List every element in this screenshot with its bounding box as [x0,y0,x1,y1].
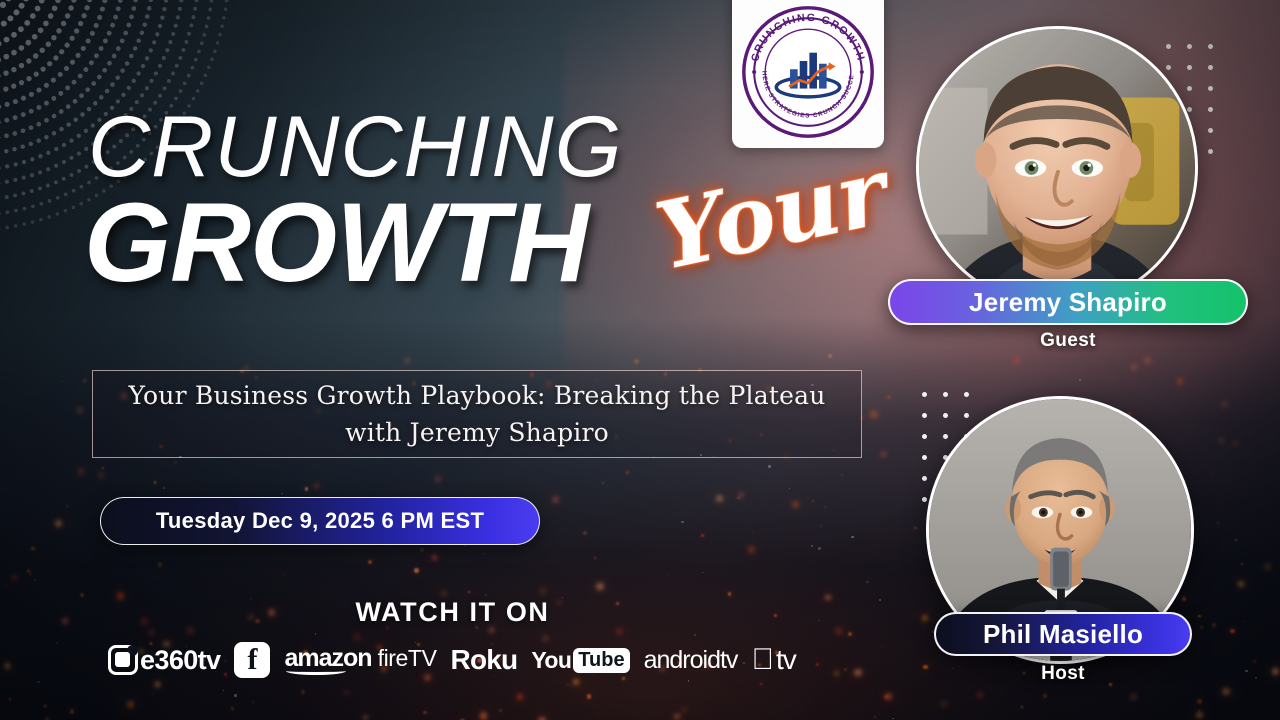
guest-name-text: Jeremy Shapiro [969,287,1167,318]
platform-roku[interactable]: Roku [451,644,518,676]
firetv-label: fireTV [378,647,437,670]
e360tv-label: e360tv [140,645,220,676]
platform-appletv[interactable]:  tv [751,644,795,676]
apple-icon:  [751,645,774,675]
facebook-label: f [234,645,270,675]
promo-poster: CRUNCHING GROWTH WHERE STRATEGIES CRUNCH… [0,0,1280,720]
watch-it-on-heading: WATCH IT ON [0,597,905,628]
guest-name-badge: Jeremy Shapiro [888,279,1248,325]
guest-avatar [916,26,1198,308]
facebook-icon: f [234,642,270,678]
date-time-badge: Tuesday Dec 9, 2025 6 PM EST [100,497,540,545]
session-title-text: Your Business Growth Playbook: Breaking … [119,377,835,452]
androidtv-label: androidtv [644,646,738,675]
platform-logo-row: e360tv f amazon fireTV Roku You Tube a [108,638,808,682]
youtube-label-tube: Tube [573,648,629,673]
platform-youtube[interactable]: You Tube [531,647,629,674]
host-name-text: Phil Masiello [983,619,1143,650]
platform-amazon-firetv[interactable]: amazon fireTV [284,646,436,675]
roku-label: Roku [451,644,518,676]
host-name-badge: Phil Masiello [934,612,1192,656]
platform-androidtv[interactable]: androidtv [644,646,738,675]
host-role-label: Host [934,663,1192,685]
date-time-text: Tuesday Dec 9, 2025 6 PM EST [156,508,484,534]
amazon-smile-icon [286,667,346,675]
e360tv-icon [108,645,138,675]
amazon-firetv-icon: amazon fireTV [284,646,436,675]
platform-facebook[interactable]: f [234,642,270,678]
host-block: Phil Masiello Host [0,0,268,268]
appletv-label: tv [776,644,796,676]
youtube-label-you: You [531,647,571,674]
session-title-box: Your Business Growth Playbook: Breaking … [92,370,862,458]
guest-role-label: Guest [888,330,1248,352]
platform-e360tv[interactable]: e360tv [108,645,220,676]
